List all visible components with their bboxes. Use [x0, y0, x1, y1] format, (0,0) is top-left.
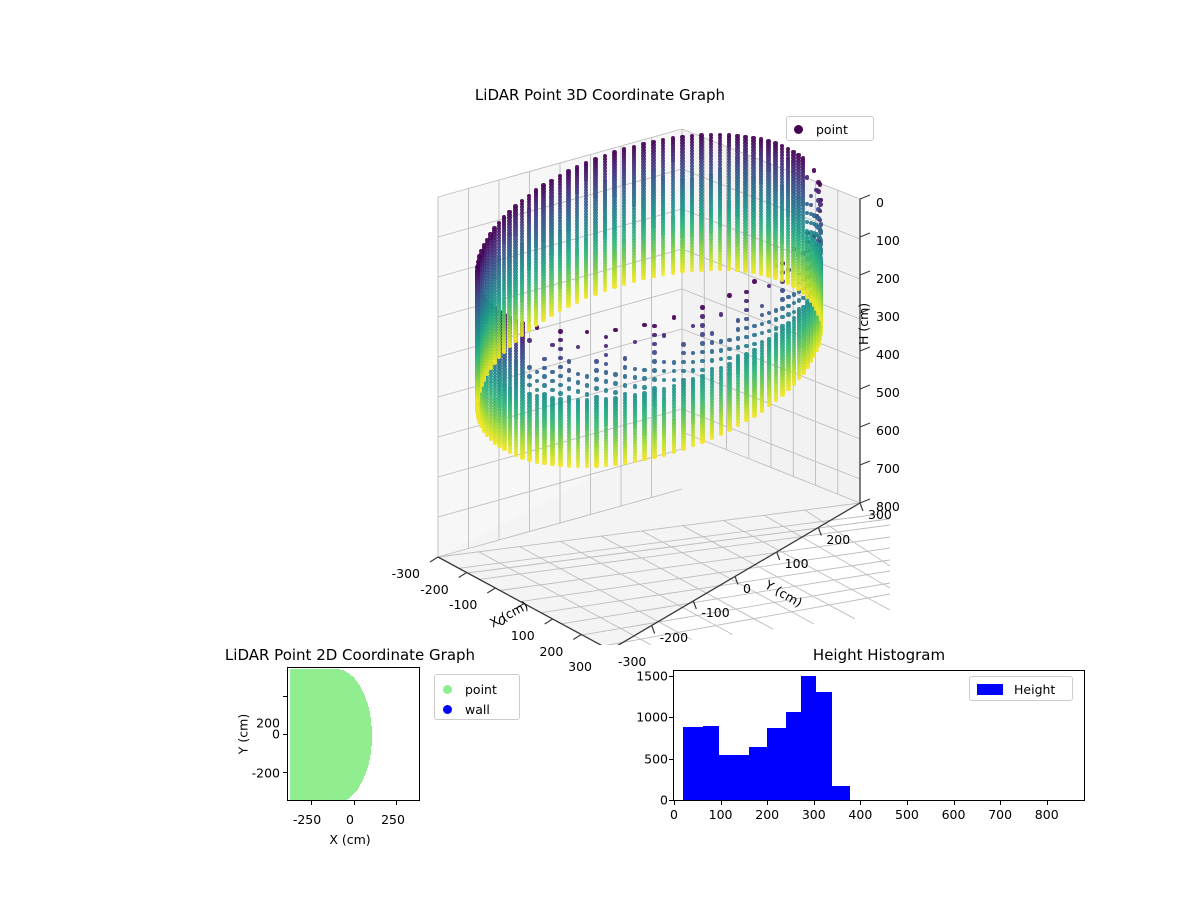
axis-3d-xtick-100: 100	[511, 628, 535, 643]
panel-hist-title: Height Histogram	[813, 646, 945, 664]
axis-2d-ytick-mark	[283, 696, 287, 697]
axis-3d-ytick-300: 300	[868, 507, 892, 522]
histogram-bar	[832, 786, 850, 800]
axis-2d-xtick-0: 0	[346, 812, 354, 827]
axis-3d-xtick-300: 300	[568, 659, 592, 674]
axis-3d-ztick-600: 600	[876, 423, 900, 438]
point-cloud-2d	[288, 668, 420, 801]
axis-3d-ytick--100: -100	[701, 605, 729, 620]
axis-3d-ytick--300: -300	[618, 654, 646, 669]
point-marker-icon	[443, 685, 452, 694]
axis-hist-xtick-mark	[767, 801, 768, 805]
axis-3d-ztick-0: 0	[876, 195, 884, 210]
axis-3d-ytick--200: -200	[660, 630, 688, 645]
axis-2d-y-label: Y (cm)	[236, 714, 251, 754]
axis-3d-ztick-500: 500	[876, 385, 900, 400]
axis-2d-xtick-mark	[396, 801, 397, 805]
axis-hist-xtick-500: 500	[895, 807, 919, 822]
axis-hist-xtick-mark	[814, 801, 815, 805]
histogram-bar	[703, 726, 719, 800]
panel-2d-title: LiDAR Point 2D Coordinate Graph	[225, 646, 475, 664]
axis-2d-ytick-neg200: -200	[252, 766, 280, 781]
axis-2d-ytick-0: 0	[272, 727, 280, 742]
legend-2d[interactable]: point wall	[434, 674, 520, 720]
axis-3d-xtick--200: -200	[420, 582, 448, 597]
axis-hist-xtick-mark	[721, 801, 722, 805]
axis-hist-ytick-1000: 1000	[636, 710, 668, 725]
axis-2d-ytick-mark	[283, 734, 287, 735]
legend-item-point: point	[443, 679, 511, 699]
histogram-bar	[683, 727, 703, 800]
legend-histogram[interactable]: Height	[969, 676, 1073, 701]
axis-hist-xtick-800: 800	[1035, 807, 1059, 822]
legend-item-height: Height	[977, 679, 1065, 699]
axis-3d-ytick-100: 100	[785, 556, 809, 571]
axis-hist-xtick-mark	[860, 801, 861, 805]
axis-3d-ztick-300: 300	[876, 309, 900, 324]
legend-item-wall: wall	[443, 699, 511, 719]
axis-hist-xtick-mark	[907, 801, 908, 805]
axis-hist-xtick-mark	[1047, 801, 1048, 805]
axis-3d-xtick-200: 200	[539, 644, 563, 659]
axis-hist-xtick-100: 100	[709, 807, 733, 822]
axis-3d-ztick-700: 700	[876, 461, 900, 476]
axis-hist-xtick-300: 300	[802, 807, 826, 822]
axis-3d-ztick-200: 200	[876, 271, 900, 286]
axis-3d-ztick-100: 100	[876, 233, 900, 248]
axis-hist-ytick-mark	[669, 759, 673, 760]
histogram-bar	[749, 747, 768, 800]
panel-3d-title: LiDAR Point 3D Coordinate Graph	[475, 86, 725, 104]
axis-hist-xtick-600: 600	[942, 807, 966, 822]
axis-3d-ytick-200: 200	[826, 532, 850, 547]
axis-hist-ytick-0: 0	[660, 793, 668, 808]
axis-hist-ytick-mark	[669, 800, 673, 801]
axis-3d-xtick--300: -300	[392, 566, 420, 581]
histogram-bar	[719, 755, 748, 800]
axis-hist-ytick-mark	[669, 717, 673, 718]
axis-3d-ztick-400: 400	[876, 347, 900, 362]
legend-label: point	[465, 682, 497, 697]
axis-hist-xtick-0: 0	[670, 807, 678, 822]
histogram-bar	[786, 712, 801, 800]
axis-hist-xtick-mark	[954, 801, 955, 805]
axis-3d-ytick-0: 0	[743, 581, 751, 596]
axis-2d-x-label: X (cm)	[329, 832, 370, 847]
histogram-bar	[801, 676, 816, 800]
axis-2d-xtick-mark	[354, 801, 355, 805]
axis-3d-z-label: H (cm)	[856, 303, 871, 345]
axis-hist-xtick-700: 700	[988, 807, 1012, 822]
legend-label: wall	[465, 702, 490, 717]
axis-2d-xtick-neg250: -250	[293, 812, 321, 827]
histogram-bar	[816, 692, 832, 800]
axis-3d-xtick--100: -100	[449, 597, 477, 612]
axis-hist-xtick-200: 200	[755, 807, 779, 822]
axis-hist-ytick-mark	[669, 676, 673, 677]
axis-2d-ytick-mark	[283, 772, 287, 773]
wall-marker-icon	[443, 705, 452, 714]
histogram-bar	[767, 728, 786, 800]
axis-2d-xtick-mark	[311, 801, 312, 805]
height-swatch-icon	[977, 684, 1003, 695]
plot-2d-axes[interactable]	[287, 667, 420, 801]
axis-hist-ytick-1500: 1500	[636, 668, 668, 683]
axis-hist-xtick-400: 400	[848, 807, 872, 822]
figure-canvas: LiDAR Point 3D Coordinate Graph point	[0, 0, 1200, 900]
axis-hist-ytick-500: 500	[644, 751, 668, 766]
axis-3d-xtick-0: 0	[498, 613, 506, 628]
axis-hist-xtick-mark	[674, 801, 675, 805]
legend-label: Height	[1014, 682, 1055, 697]
axis-hist-xtick-mark	[1000, 801, 1001, 805]
axis-2d-xtick-250: 250	[381, 812, 405, 827]
